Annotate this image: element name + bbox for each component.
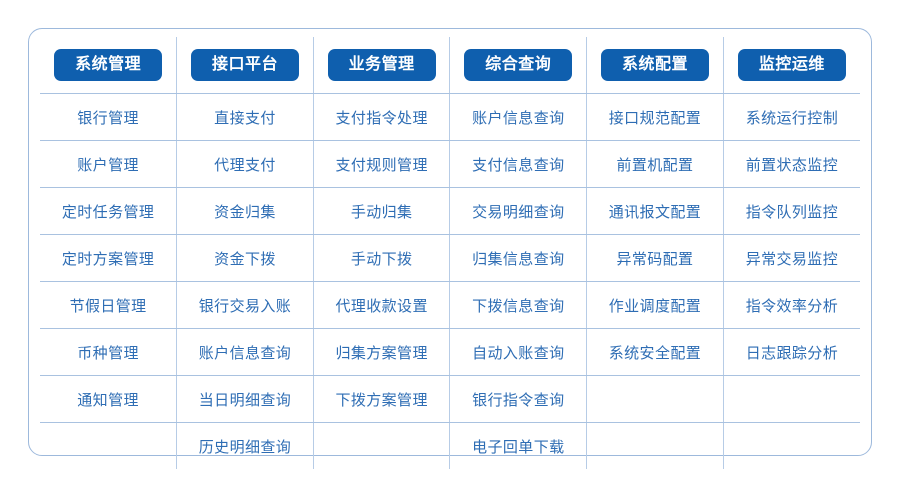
table-row: 银行管理 直接支付 支付指令处理 账户信息查询 接口规范配置 系统运行控制	[40, 94, 860, 141]
module-cell[interactable]: 通知管理	[40, 376, 177, 423]
module-cell[interactable]: 归集方案管理	[313, 329, 450, 376]
module-cell[interactable]: 前置状态监控	[723, 141, 860, 188]
module-cell[interactable]: 账户信息查询	[177, 329, 314, 376]
module-map-table: 系统管理 接口平台 业务管理 综合查询 系统配置 监控运维	[40, 37, 860, 469]
module-cell[interactable]: 交易明细查询	[450, 188, 587, 235]
category-button-business-management[interactable]: 业务管理	[328, 49, 436, 82]
module-cell[interactable]: 通讯报文配置	[587, 188, 724, 235]
module-cell[interactable]: 自动入账查询	[450, 329, 587, 376]
module-cell[interactable]: 作业调度配置	[587, 282, 724, 329]
module-cell-empty	[313, 423, 450, 470]
module-cell-empty	[587, 423, 724, 470]
module-cell[interactable]: 手动归集	[313, 188, 450, 235]
module-cell[interactable]: 定时方案管理	[40, 235, 177, 282]
module-cell[interactable]: 当日明细查询	[177, 376, 314, 423]
module-cell[interactable]: 资金归集	[177, 188, 314, 235]
module-cell[interactable]: 系统安全配置	[587, 329, 724, 376]
module-cell[interactable]: 银行管理	[40, 94, 177, 141]
column-header-cell-1: 接口平台	[177, 37, 314, 94]
module-cell[interactable]: 支付指令处理	[313, 94, 450, 141]
category-button-interface-platform[interactable]: 接口平台	[191, 49, 299, 82]
module-cell[interactable]: 日志跟踪分析	[723, 329, 860, 376]
table-row: 币种管理 账户信息查询 归集方案管理 自动入账查询 系统安全配置 日志跟踪分析	[40, 329, 860, 376]
column-header-cell-2: 业务管理	[313, 37, 450, 94]
column-header-cell-3: 综合查询	[450, 37, 587, 94]
module-cell[interactable]: 代理收款设置	[313, 282, 450, 329]
module-cell[interactable]: 节假日管理	[40, 282, 177, 329]
module-cell-empty	[723, 423, 860, 470]
module-cell[interactable]: 直接支付	[177, 94, 314, 141]
category-button-system-configuration[interactable]: 系统配置	[601, 49, 709, 82]
module-cell[interactable]: 账户管理	[40, 141, 177, 188]
column-header-cell-5: 监控运维	[723, 37, 860, 94]
module-cell[interactable]: 前置机配置	[587, 141, 724, 188]
module-cell[interactable]: 支付信息查询	[450, 141, 587, 188]
module-cell[interactable]: 资金下拨	[177, 235, 314, 282]
table-body: 银行管理 直接支付 支付指令处理 账户信息查询 接口规范配置 系统运行控制 账户…	[40, 94, 860, 470]
module-cell[interactable]: 支付规则管理	[313, 141, 450, 188]
module-cell[interactable]: 下拨方案管理	[313, 376, 450, 423]
category-button-system-management[interactable]: 系统管理	[54, 49, 162, 82]
module-cell[interactable]: 系统运行控制	[723, 94, 860, 141]
module-cell[interactable]: 账户信息查询	[450, 94, 587, 141]
table-row: 通知管理 当日明细查询 下拨方案管理 银行指令查询	[40, 376, 860, 423]
module-cell[interactable]: 指令队列监控	[723, 188, 860, 235]
module-cell[interactable]: 下拨信息查询	[450, 282, 587, 329]
table-row: 定时方案管理 资金下拨 手动下拨 归集信息查询 异常码配置 异常交易监控	[40, 235, 860, 282]
module-cell[interactable]: 代理支付	[177, 141, 314, 188]
module-cell[interactable]: 异常交易监控	[723, 235, 860, 282]
category-button-monitoring-operations[interactable]: 监控运维	[738, 49, 846, 82]
module-cell[interactable]: 异常码配置	[587, 235, 724, 282]
table-row: 定时任务管理 资金归集 手动归集 交易明细查询 通讯报文配置 指令队列监控	[40, 188, 860, 235]
table-header: 系统管理 接口平台 业务管理 综合查询 系统配置 监控运维	[40, 37, 860, 94]
module-cell[interactable]: 币种管理	[40, 329, 177, 376]
module-cell[interactable]: 定时任务管理	[40, 188, 177, 235]
column-header-cell-4: 系统配置	[587, 37, 724, 94]
table-row: 历史明细查询 电子回单下载	[40, 423, 860, 470]
module-cell[interactable]: 历史明细查询	[177, 423, 314, 470]
module-cell-empty	[723, 376, 860, 423]
module-cell[interactable]: 手动下拨	[313, 235, 450, 282]
module-map-panel: 系统管理 接口平台 业务管理 综合查询 系统配置 监控运维	[28, 28, 872, 456]
module-cell-empty	[40, 423, 177, 470]
module-cell[interactable]: 归集信息查询	[450, 235, 587, 282]
module-cell-empty	[587, 376, 724, 423]
module-cell[interactable]: 指令效率分析	[723, 282, 860, 329]
header-row: 系统管理 接口平台 业务管理 综合查询 系统配置 监控运维	[40, 37, 860, 94]
module-cell[interactable]: 接口规范配置	[587, 94, 724, 141]
column-header-cell-0: 系统管理	[40, 37, 177, 94]
table-row: 账户管理 代理支付 支付规则管理 支付信息查询 前置机配置 前置状态监控	[40, 141, 860, 188]
table-row: 节假日管理 银行交易入账 代理收款设置 下拨信息查询 作业调度配置 指令效率分析	[40, 282, 860, 329]
module-cell[interactable]: 电子回单下载	[450, 423, 587, 470]
module-cell[interactable]: 银行指令查询	[450, 376, 587, 423]
module-cell[interactable]: 银行交易入账	[177, 282, 314, 329]
category-button-comprehensive-query[interactable]: 综合查询	[464, 49, 572, 82]
